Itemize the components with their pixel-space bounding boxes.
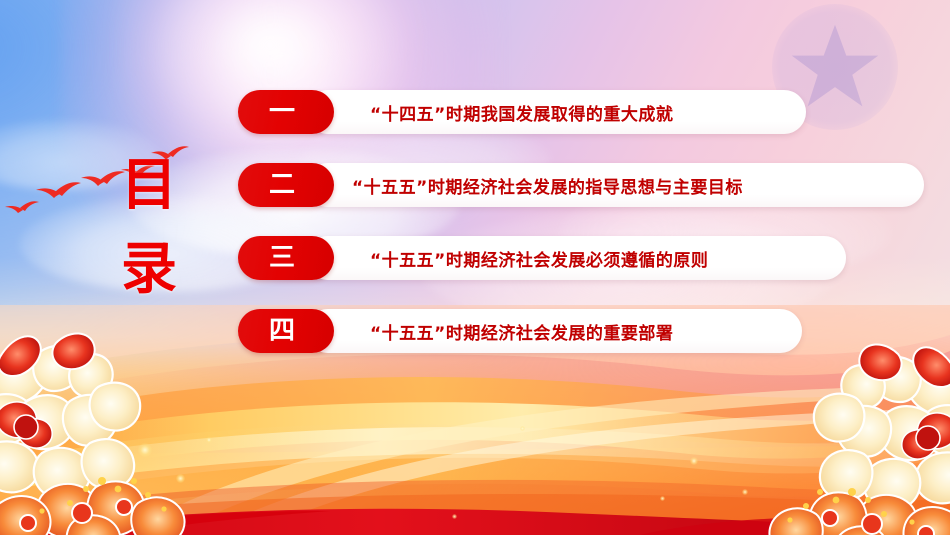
sparkle: [452, 514, 457, 519]
toc-number-3: 三: [269, 245, 295, 271]
toc-number-4: 四: [269, 318, 295, 344]
title-char-lu: 录: [104, 242, 194, 298]
toc-label-4: “十五五”时期经济社会发展的重要部署: [352, 319, 673, 344]
toc-label-1: “十四五”时期我国发展取得的重大成就: [352, 100, 673, 125]
page-title: 目 录: [104, 158, 194, 298]
title-char-mu: 目: [104, 158, 194, 214]
toc-label-pill-2[interactable]: “十五五”时期经济社会发展的指导思想与主要目标: [306, 163, 924, 207]
toc-label-3: “十五五”时期经济社会发展必须遵循的原则: [352, 246, 708, 271]
toc-number-badge-1[interactable]: 一: [238, 90, 334, 134]
toc-item-4[interactable]: 四 “十五五”时期经济社会发展的重要部署: [238, 309, 924, 353]
toc-number-1: 一: [269, 99, 295, 125]
toc-number-badge-2[interactable]: 二: [238, 163, 334, 207]
toc-label-pill-4[interactable]: “十五五”时期经济社会发展的重要部署: [306, 309, 802, 353]
toc-number-badge-4[interactable]: 四: [238, 309, 334, 353]
toc-label-pill-3[interactable]: “十五五”时期经济社会发展必须遵循的原则: [306, 236, 846, 280]
presentation-slide: 目 录 一 “十四五”时期我国发展取得的重大成就 二 “十五五”时期经济社会发展…: [0, 0, 950, 535]
peony-flower-icon: [0, 331, 308, 535]
toc-item-1[interactable]: 一 “十四五”时期我国发展取得的重大成就: [238, 90, 924, 134]
sparkle: [520, 426, 525, 431]
toc-item-2[interactable]: 二 “十五五”时期经济社会发展的指导思想与主要目标: [238, 163, 924, 207]
toc-number-badge-3[interactable]: 三: [238, 236, 334, 280]
toc-number-2: 二: [269, 172, 295, 198]
peony-flower-icon: [646, 342, 950, 535]
toc-item-3[interactable]: 三 “十五五”时期经济社会发展必须遵循的原则: [238, 236, 924, 280]
toc-label-pill-1[interactable]: “十四五”时期我国发展取得的重大成就: [306, 90, 806, 134]
toc-label-2: “十五五”时期经济社会发展的指导思想与主要目标: [352, 173, 743, 198]
toc-list: 一 “十四五”时期我国发展取得的重大成就 二 “十五五”时期经济社会发展的指导思…: [238, 90, 924, 353]
